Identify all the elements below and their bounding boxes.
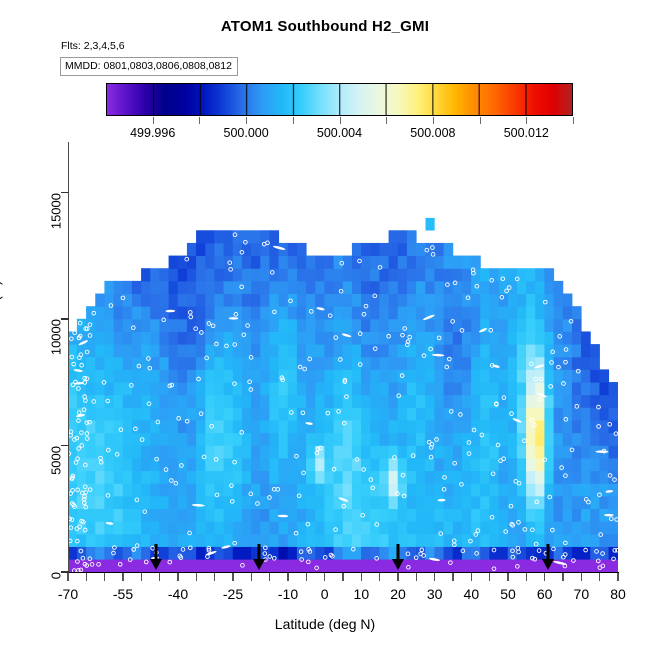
x-axis-tick (507, 573, 509, 581)
colorbar-tick (573, 117, 574, 124)
x-axis-tick-label: -25 (223, 586, 243, 602)
figure-root: ATOM1 Southbound H2_GMI Flts: 2,3,4,5,6 … (0, 0, 650, 650)
colorbar-tick (526, 117, 527, 124)
x-axis-tick (86, 573, 88, 581)
colorbar-tick (386, 117, 387, 124)
x-axis-tick (361, 573, 363, 581)
x-axis-tick-label: 40 (464, 586, 480, 602)
latitude-arrow-marker (541, 544, 555, 570)
x-axis-tick (177, 573, 179, 581)
y-axis-tick-label: 15000 (49, 193, 64, 229)
x-axis-tick (324, 573, 326, 581)
y-axis-tick-label: 10000 (49, 319, 64, 355)
y-axis-tick-label: 0 (49, 572, 64, 579)
x-axis-tick (617, 573, 619, 581)
colorbar (106, 83, 573, 116)
y-axis-label: Altitude (m) (0, 280, 2, 349)
x-axis-tick-label: 20 (390, 586, 406, 602)
x-axis-tick (287, 573, 289, 581)
x-axis-tick-label: 30 (427, 586, 443, 602)
colorbar-tick (199, 117, 200, 124)
x-axis-tick (306, 573, 308, 581)
x-axis-tick (342, 573, 344, 581)
latitude-arrow-marker (252, 544, 266, 570)
x-axis-tick (214, 573, 216, 581)
mmdd-label: MMDD: 0801,0803,0806,0808,0812 (60, 57, 238, 76)
colorbar-tick (293, 117, 294, 124)
x-axis-tick (599, 573, 601, 581)
colorbar-tick-label: 500.012 (504, 126, 549, 140)
colorbar-tick-label: 500.004 (317, 126, 362, 140)
x-axis-tick-label: 50 (500, 586, 516, 602)
x-axis-tick-label: 10 (354, 586, 370, 602)
x-axis-tick-label: -40 (168, 586, 188, 602)
x-axis-tick-label: 0 (321, 586, 329, 602)
colorbar-tick (480, 117, 481, 124)
x-axis-tick-label: -10 (278, 586, 298, 602)
x-axis-tick (104, 573, 106, 581)
x-axis-tick-label: 60 (537, 586, 553, 602)
x-axis-tick (196, 573, 198, 581)
colorbar-tick-label: 500.008 (410, 126, 455, 140)
x-axis-tick (471, 573, 473, 581)
x-axis-tick (581, 573, 583, 581)
x-axis-tick (67, 573, 69, 581)
colorbar-gradient (106, 83, 573, 116)
colorbar-tick-label: 499.996 (130, 126, 175, 140)
y-axis-tick-label: 5000 (49, 446, 64, 475)
x-axis-tick (562, 573, 564, 581)
plot-frame (68, 142, 619, 573)
flights-label: Flts: 2,3,4,5,6 (61, 40, 125, 52)
x-axis-tick (416, 573, 418, 581)
x-axis-tick (251, 573, 253, 581)
x-axis-tick (269, 573, 271, 581)
colorbar-tick (340, 117, 341, 124)
x-axis-tick (526, 573, 528, 581)
x-axis-tick (489, 573, 491, 581)
x-axis-tick (434, 573, 436, 581)
x-axis-tick-label: -55 (113, 586, 133, 602)
x-axis-tick (159, 573, 161, 581)
x-axis-tick-label: 80 (610, 586, 626, 602)
colorbar-tick-label: 500.000 (224, 126, 269, 140)
x-axis-tick (452, 573, 454, 581)
x-axis-tick (232, 573, 234, 581)
x-axis-tick (141, 573, 143, 581)
colorbar-tick (153, 117, 154, 124)
colorbar-tick (433, 117, 434, 124)
x-axis-tick (397, 573, 399, 581)
latitude-arrow-marker (391, 544, 405, 570)
colorbar-tick (246, 117, 247, 124)
x-axis-tick-label: -70 (58, 586, 78, 602)
latitude-arrow-marker (149, 544, 163, 570)
x-axis-tick (122, 573, 124, 581)
x-axis-label: Latitude (deg N) (0, 616, 650, 632)
page-title: ATOM1 Southbound H2_GMI (0, 18, 650, 35)
x-axis-tick-label: 70 (574, 586, 590, 602)
x-axis-tick (379, 573, 381, 581)
x-axis-tick (544, 573, 546, 581)
